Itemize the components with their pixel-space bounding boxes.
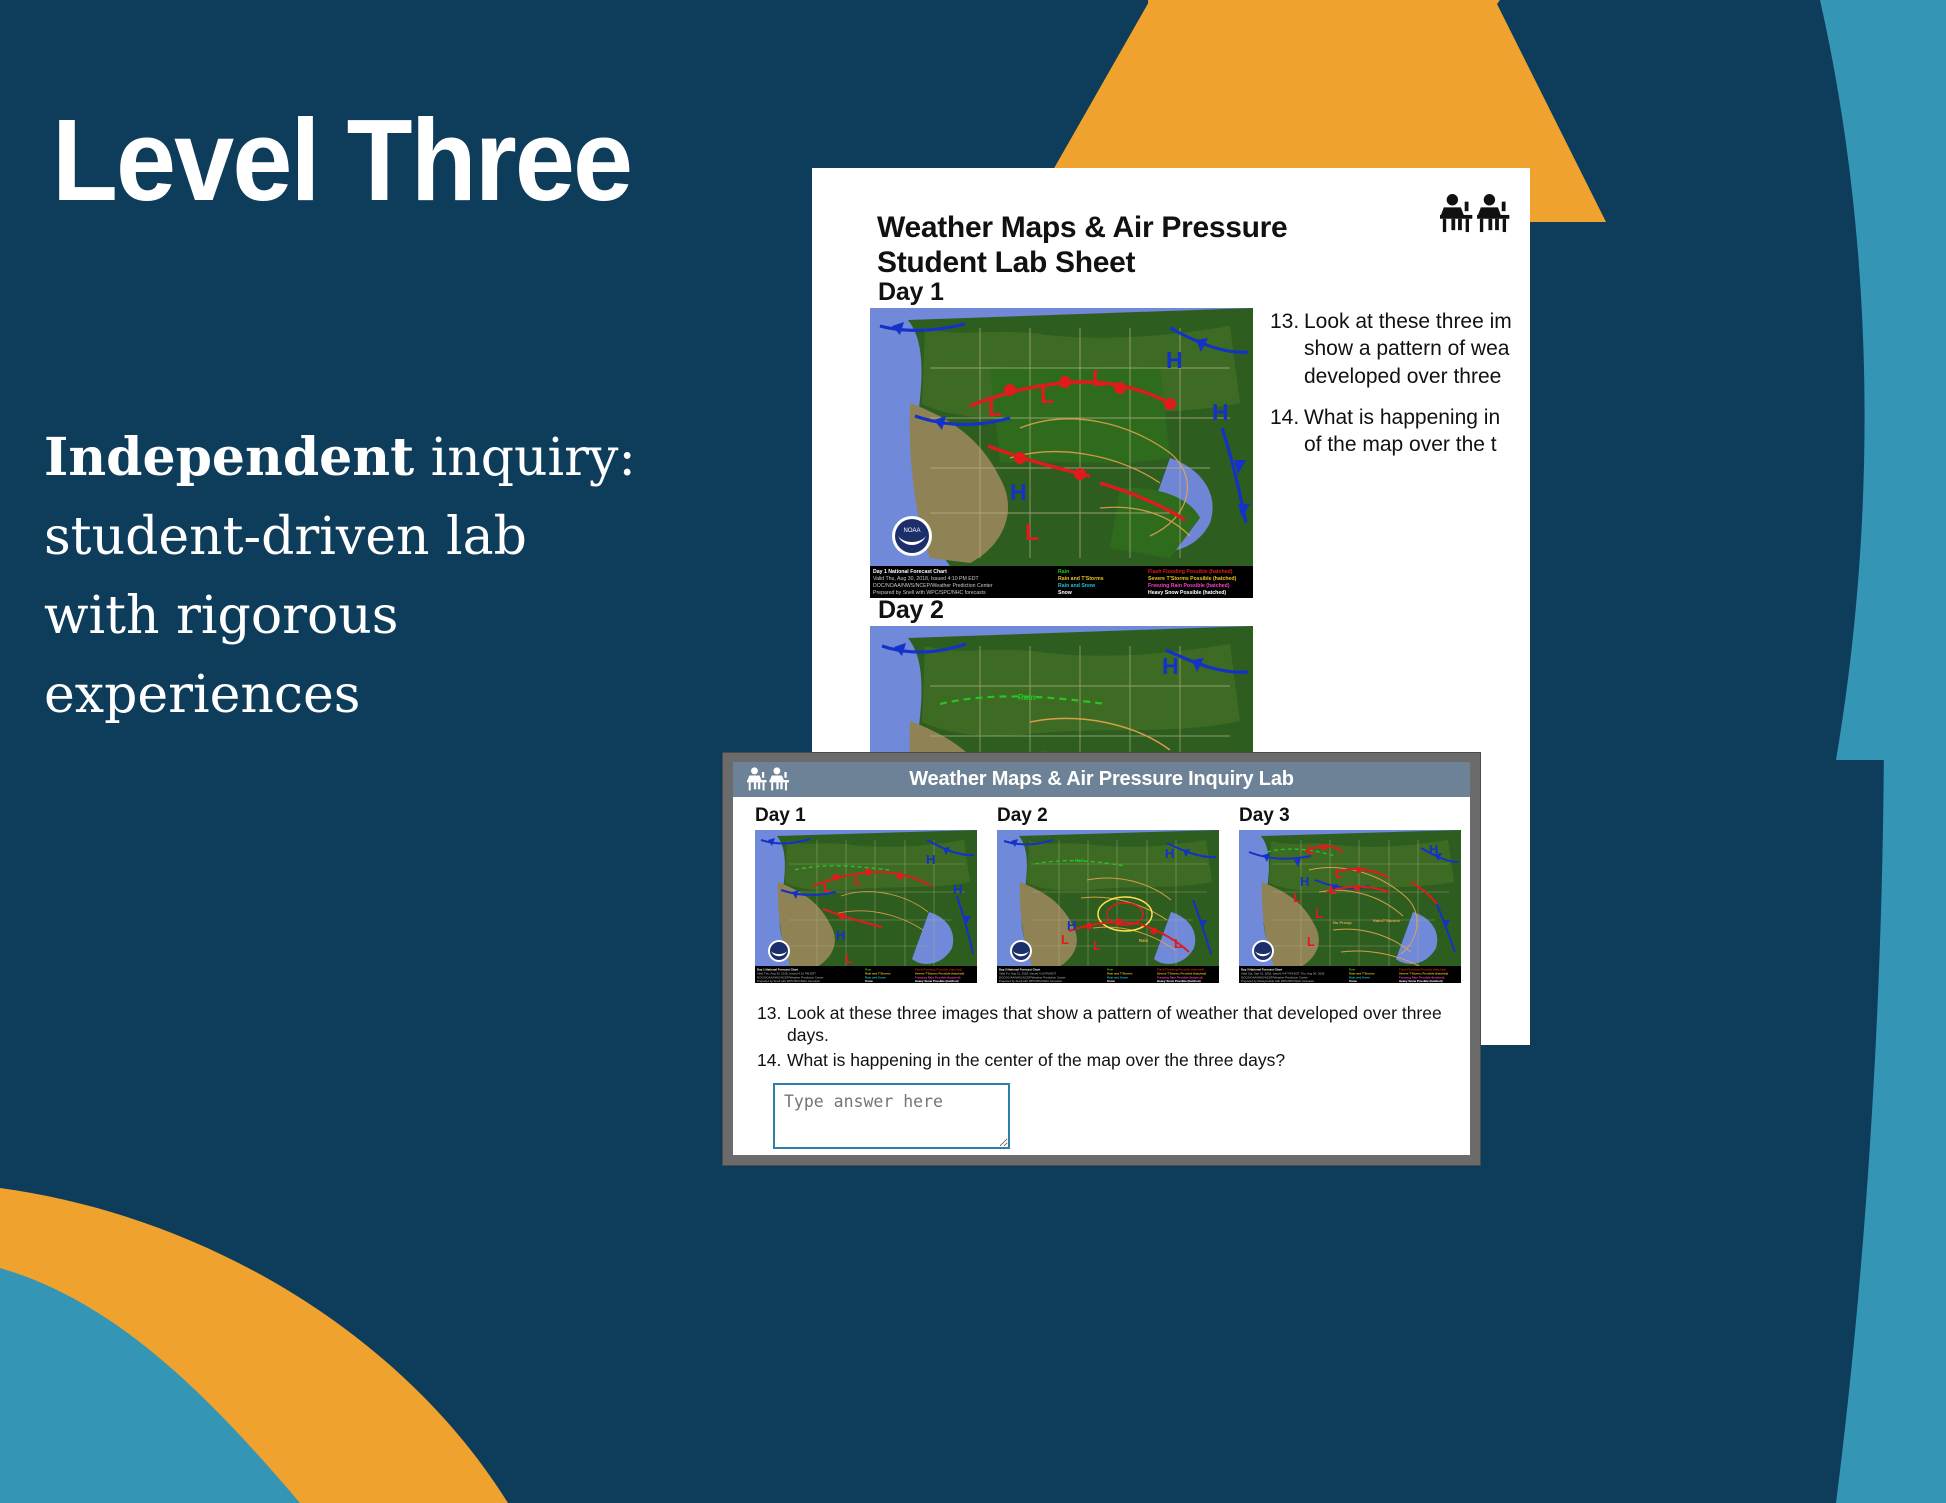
- svg-text:Prepared by Moraymobile with W: Prepared by Moraymobile with WPC/SPC/NHC…: [1241, 979, 1314, 983]
- sheet-question-14-number: 14.: [1270, 404, 1304, 459]
- svg-text:H: H: [1162, 653, 1179, 679]
- svg-text:Rain/T'Storms: Rain/T'Storms: [1373, 918, 1401, 923]
- body-line-2: student-driven lab: [44, 498, 834, 577]
- svg-text:Rain: Rain: [1018, 693, 1035, 702]
- svg-text:H: H: [1212, 399, 1229, 425]
- inquiry-lab-day3-label: Day 3: [1239, 805, 1461, 827]
- svg-text:Snow: Snow: [1058, 590, 1073, 596]
- svg-text:L: L: [854, 873, 862, 888]
- inquiry-lab-day2-label: Day 2: [997, 805, 1219, 827]
- svg-text:L: L: [1329, 882, 1337, 897]
- body-rest-1: inquiry:: [414, 428, 636, 488]
- svg-text:Severe T'Storms Possible (hatc: Severe T'Storms Possible (hatched): [1148, 576, 1237, 582]
- sheet-question-13-text: Look at these three im show a pattern of…: [1304, 308, 1512, 390]
- noaa-logo-icon: [1010, 940, 1032, 962]
- svg-text:H: H: [1429, 842, 1438, 857]
- sheet-day1-label: Day 1: [878, 278, 944, 307]
- inquiry-lab-question-14-number: 14.: [757, 1049, 787, 1071]
- svg-text:Prepared by Snell with WPC/SPC: Prepared by Snell with WPC/SPC/NHC forec…: [757, 979, 820, 983]
- inquiry-lab-questions: 13. Look at these three images that show…: [733, 988, 1470, 1071]
- sheet-title: Weather Maps & Air Pressure Student Lab …: [877, 210, 1517, 280]
- sheet-title-line1: Weather Maps & Air Pressure: [877, 210, 1517, 245]
- svg-text:Prepared by Snell with WPC/SPC: Prepared by Snell with WPC/SPC/NHC forec…: [873, 590, 986, 596]
- body-line-4: experiences: [44, 656, 834, 735]
- inquiry-lab-question-13-text: Look at these three images that show a p…: [787, 1002, 1452, 1046]
- answer-input[interactable]: [773, 1083, 1010, 1149]
- svg-text:H: H: [1010, 479, 1027, 505]
- sheet-title-line2: Student Lab Sheet: [877, 245, 1517, 280]
- svg-text:H: H: [836, 928, 845, 943]
- inquiry-lab-question-13: 13. Look at these three images that show…: [757, 1002, 1452, 1046]
- sheet-day2-label: Day 2: [878, 596, 944, 625]
- svg-text:L: L: [1093, 938, 1101, 953]
- svg-text:L: L: [988, 395, 1002, 421]
- body-strong-word: Independent: [44, 427, 414, 488]
- students-at-desks-icon: [1440, 192, 1516, 236]
- inquiry-lab-content: Weather Maps & Air Pressure Inquiry Lab …: [733, 762, 1470, 1155]
- sheet-question-14-text: What is happening in of the map over the…: [1304, 404, 1500, 459]
- noaa-logo-icon: NOAA: [892, 516, 932, 556]
- svg-text:NOAA: NOAA: [903, 528, 920, 534]
- inquiry-lab-question-14-text: What is happening in the center of the m…: [787, 1049, 1285, 1071]
- svg-text:No Precip: No Precip: [1333, 920, 1352, 925]
- noaa-logo-icon: [1252, 940, 1274, 962]
- inquiry-weather-map-day1: L L L H H H Day 1 National Forecas: [755, 830, 977, 983]
- svg-text:Snow: Snow: [1107, 979, 1115, 983]
- svg-text:Rain and Snow: Rain and Snow: [1058, 583, 1096, 589]
- svg-text:L: L: [1307, 842, 1315, 857]
- inquiry-lab-day-row: Day 1: [733, 797, 1470, 988]
- svg-text:L: L: [1040, 382, 1054, 408]
- svg-text:Valid Thu, Aug 30, 2018, Issue: Valid Thu, Aug 30, 2018, Issued 4:10 PM …: [873, 576, 979, 582]
- weather-map-day1: L L L L H H H NOAA Day 1 National Foreca…: [870, 308, 1253, 598]
- svg-text:Heavy Snow Possible (hatched): Heavy Snow Possible (hatched): [915, 979, 959, 983]
- inquiry-lab-title: Weather Maps & Air Pressure Inquiry Lab: [733, 768, 1470, 791]
- svg-text:Prepared by Snell with WPC/SPC: Prepared by Snell with WPC/SPC/NHC forec…: [999, 979, 1062, 983]
- svg-text:L: L: [1315, 906, 1323, 921]
- svg-text:H: H: [1165, 846, 1174, 861]
- svg-text:Rain and T'Storms: Rain and T'Storms: [1058, 576, 1104, 582]
- sheet-question-14: 14. What is happening in of the map over…: [1270, 404, 1530, 459]
- inquiry-lab-question-14: 14. What is happening in the center of t…: [757, 1049, 1452, 1071]
- inquiry-weather-map-day2: Rain: [997, 830, 1219, 983]
- slide-title: Level Three: [52, 100, 815, 222]
- inquiry-lab-question-13-number: 13.: [757, 1002, 787, 1046]
- sheet-question-13: 13. Look at these three im show a patter…: [1270, 308, 1530, 390]
- inquiry-weather-map-day3: L L L L L L H H No Precip Rain/T'Storms: [1239, 830, 1461, 983]
- svg-text:L: L: [1174, 936, 1182, 951]
- svg-text:Rain: Rain: [1058, 569, 1069, 575]
- svg-text:Heavy Snow Possible (hatched): Heavy Snow Possible (hatched): [1157, 979, 1201, 983]
- svg-text:L: L: [1293, 890, 1301, 905]
- sheet-question-13-number: 13.: [1270, 308, 1304, 390]
- svg-text:Flash Flooding Possible (hatch: Flash Flooding Possible (hatched): [1148, 569, 1233, 575]
- students-at-desks-icon: [747, 766, 793, 793]
- noaa-logo-icon: [768, 940, 790, 962]
- svg-text:L: L: [845, 951, 853, 966]
- sheet-questions: 13. Look at these three im show a patter…: [1270, 308, 1530, 472]
- svg-text:H: H: [1300, 874, 1309, 889]
- body-line-3: with rigorous: [44, 577, 834, 656]
- slide-body: Independent inquiry: student-driven lab …: [44, 418, 834, 735]
- inquiry-lab-header: Weather Maps & Air Pressure Inquiry Lab: [733, 762, 1470, 797]
- svg-text:Snow: Snow: [865, 979, 873, 983]
- svg-text:Heavy Snow Possible (hatched): Heavy Snow Possible (hatched): [1148, 590, 1226, 596]
- svg-text:Rain: Rain: [1139, 938, 1149, 943]
- svg-text:H: H: [1166, 347, 1183, 373]
- svg-text:H: H: [1067, 918, 1076, 933]
- svg-text:DOC/NOAA/NWS/NCEP/Weather Pred: DOC/NOAA/NWS/NCEP/Weather Prediction Cen…: [873, 583, 993, 589]
- svg-text:Heavy Snow Possible (hatched): Heavy Snow Possible (hatched): [1399, 979, 1443, 983]
- svg-text:L: L: [1335, 866, 1343, 881]
- svg-text:Freezing Rain Possible (hatche: Freezing Rain Possible (hatched): [1148, 583, 1230, 589]
- svg-text:Snow: Snow: [1349, 979, 1357, 983]
- svg-text:L: L: [823, 880, 831, 895]
- svg-text:L: L: [1061, 932, 1069, 947]
- inquiry-lab-day-cell: Day 3: [1239, 805, 1461, 988]
- inquiry-lab-window[interactable]: Weather Maps & Air Pressure Inquiry Lab …: [723, 753, 1480, 1165]
- svg-text:Day 1 National Forecast Chart: Day 1 National Forecast Chart: [873, 569, 947, 575]
- svg-text:Rain: Rain: [1075, 858, 1085, 863]
- svg-text:L: L: [1092, 365, 1106, 391]
- svg-text:L: L: [1307, 934, 1315, 949]
- svg-text:H: H: [926, 852, 935, 867]
- inquiry-lab-day-cell: Day 2 Rain: [997, 805, 1219, 988]
- inquiry-lab-day-cell: Day 1: [755, 805, 977, 988]
- body-line-1: Independent inquiry:: [44, 418, 834, 498]
- inquiry-lab-day1-label: Day 1: [755, 805, 977, 827]
- svg-text:L: L: [1025, 519, 1039, 545]
- svg-text:H: H: [953, 882, 962, 897]
